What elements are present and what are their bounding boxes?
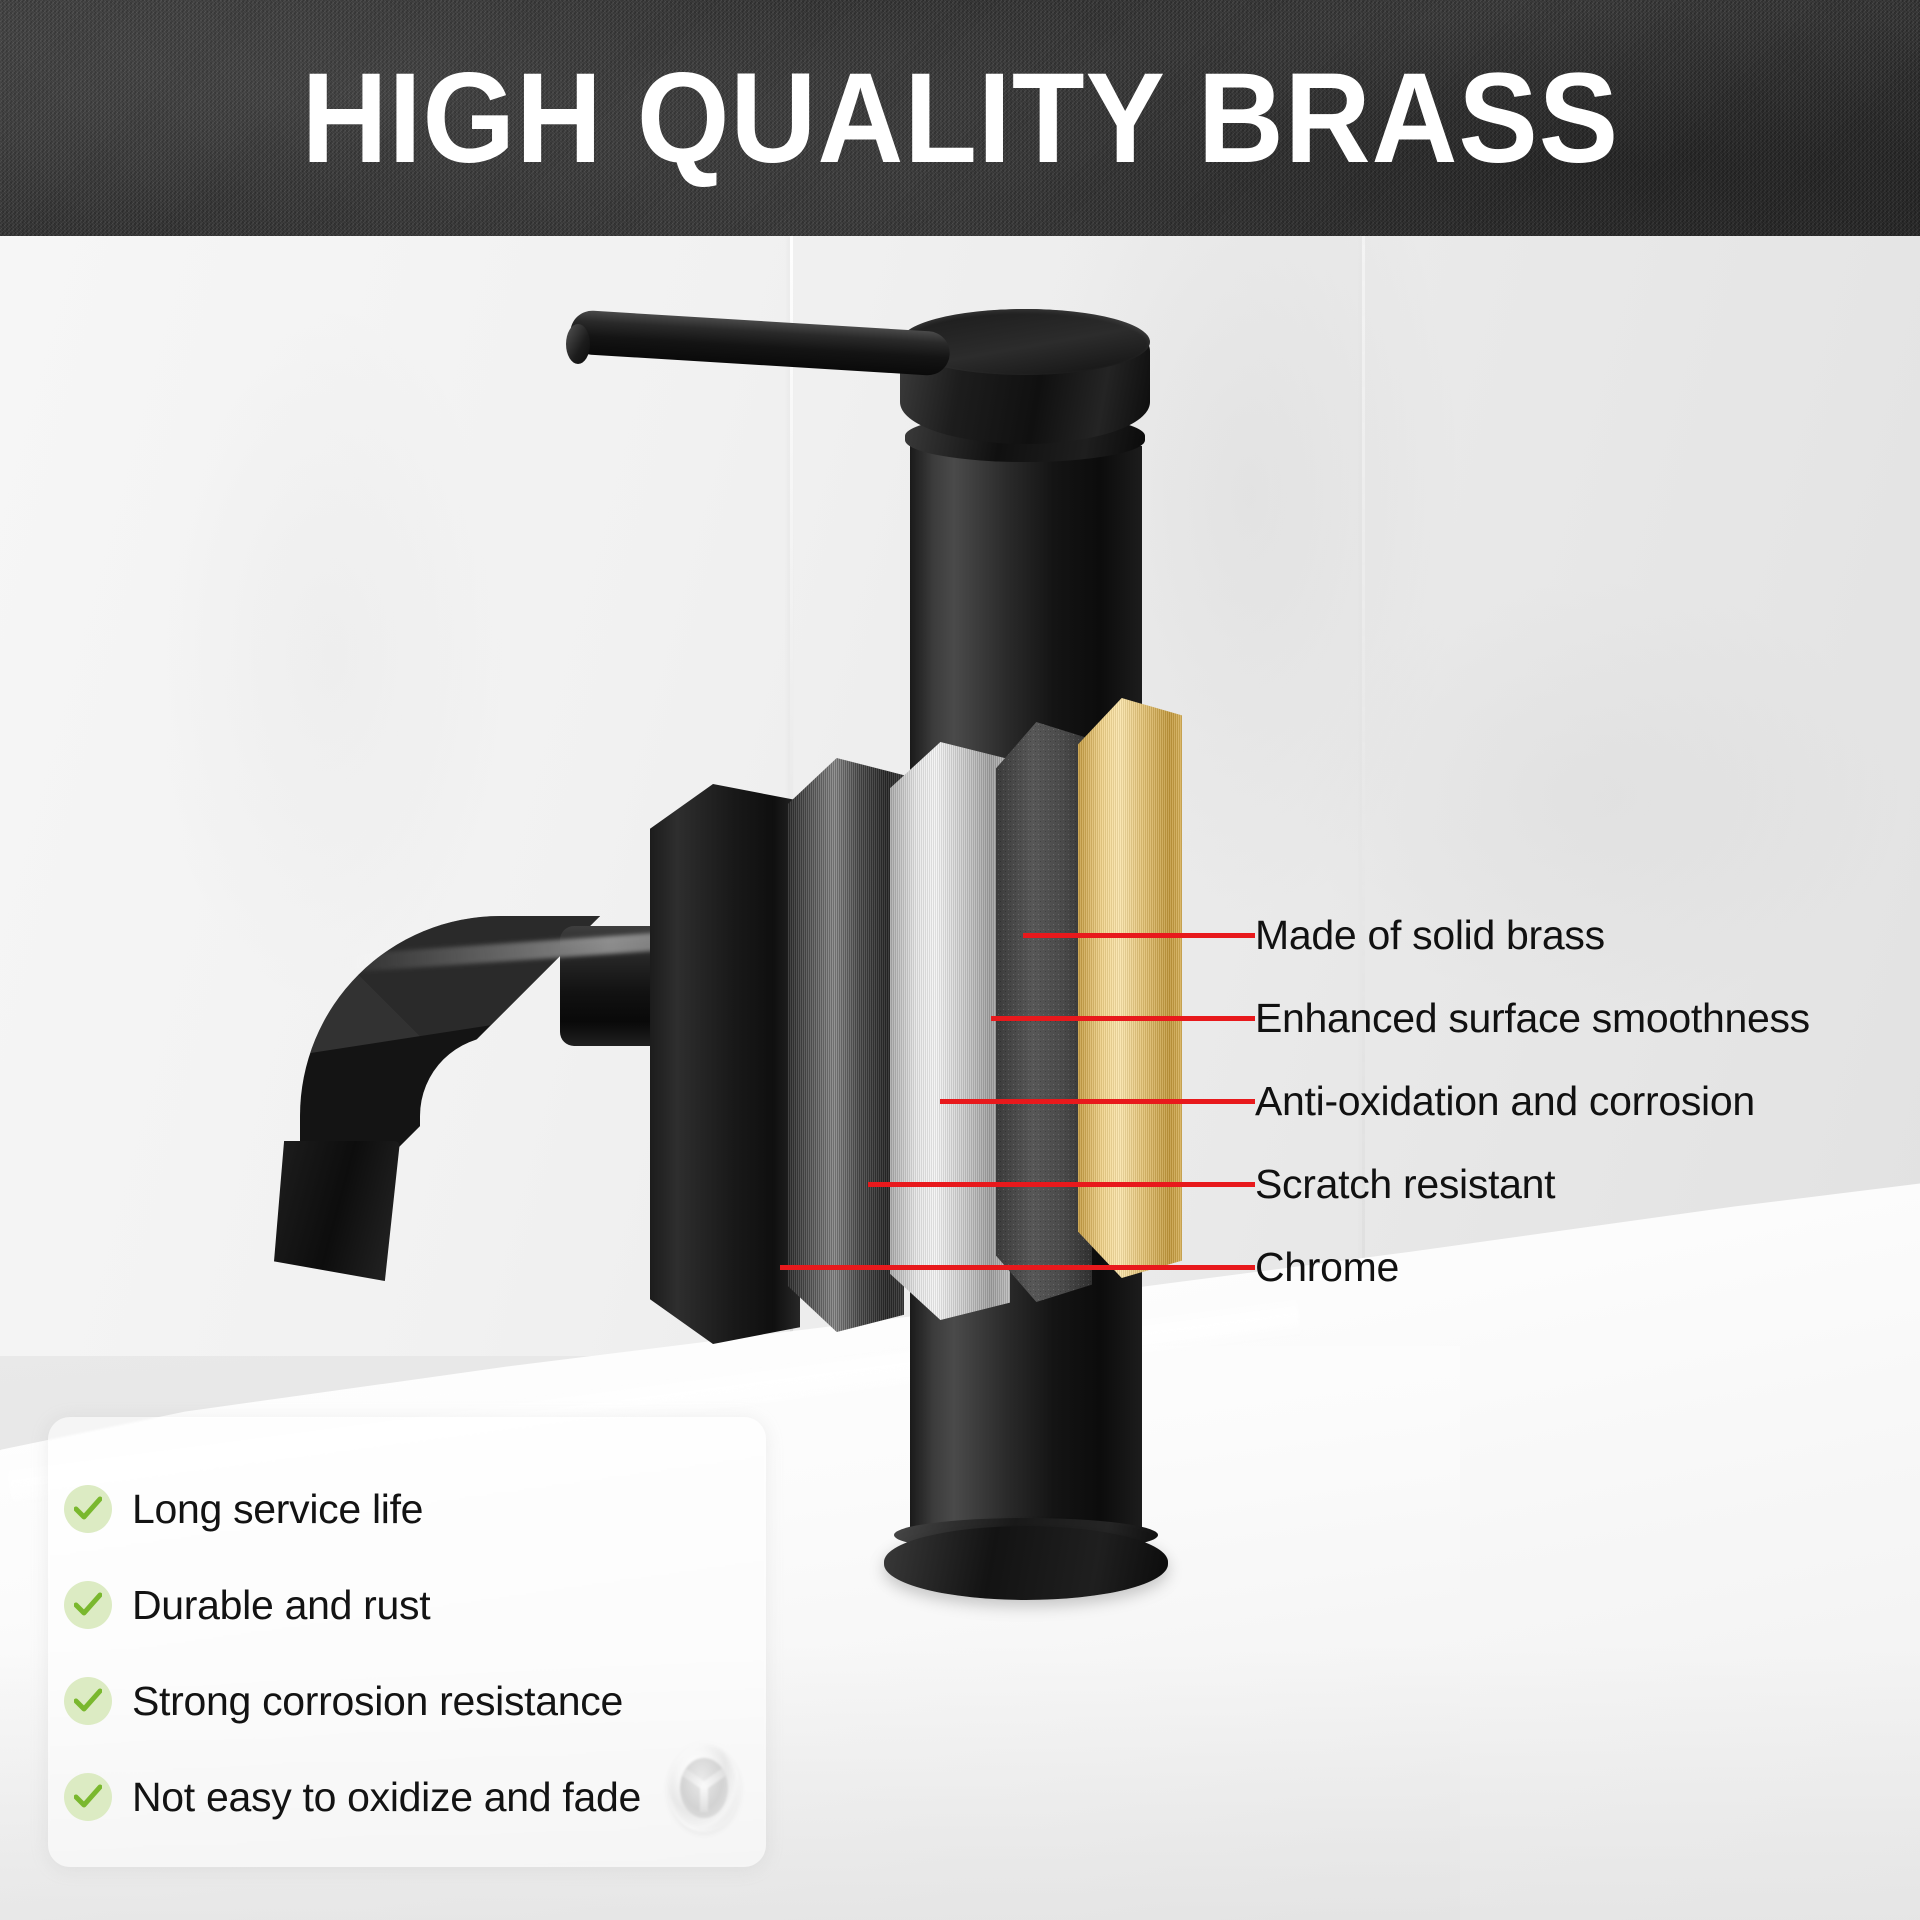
callout-label: Anti-oxidation and corrosion	[1255, 1074, 1755, 1128]
callout-label: Chrome	[1255, 1240, 1399, 1294]
check-icon	[64, 1581, 112, 1629]
callout-scratch-resistant: Scratch resistant	[868, 1157, 1918, 1211]
callout-leader-line	[780, 1265, 1255, 1270]
feature-label: Not easy to oxidize and fade	[132, 1773, 641, 1821]
callout-enhanced-surface-smoothness: Enhanced surface smoothness	[991, 991, 1920, 1045]
check-icon	[64, 1677, 112, 1725]
feature-checklist-card: Long service life Durable and rust Stron…	[48, 1417, 766, 1867]
feature-item-not-easy-to-oxidize-and-fade: Not easy to oxidize and fade	[48, 1749, 766, 1845]
callout-label: Enhanced surface smoothness	[1255, 991, 1810, 1045]
feature-label: Durable and rust	[132, 1581, 430, 1629]
feature-item-long-service-life: Long service life	[48, 1461, 766, 1557]
banner-title: HIGH QUALITY BRASS	[301, 55, 1618, 183]
callout-leader-line	[868, 1182, 1255, 1187]
callout-label: Made of solid brass	[1255, 908, 1605, 962]
callout-leader-line	[940, 1099, 1255, 1104]
feature-label: Strong corrosion resistance	[132, 1677, 623, 1725]
infographic-canvas: HIGH QUALITY BRASS	[0, 0, 1920, 1920]
feature-item-strong-corrosion-resistance: Strong corrosion resistance	[48, 1653, 766, 1749]
feature-item-durable-and-rust: Durable and rust	[48, 1557, 766, 1653]
check-icon	[64, 1485, 112, 1533]
header-banner: HIGH QUALITY BRASS	[0, 0, 1920, 236]
callout-made-of-solid-brass: Made of solid brass	[1023, 908, 1903, 962]
check-icon	[64, 1773, 112, 1821]
callout-leader-line	[991, 1016, 1255, 1021]
callout-chrome: Chrome	[780, 1240, 1920, 1294]
feature-label: Long service life	[132, 1485, 423, 1533]
callout-anti-oxidation-and-corrosion: Anti-oxidation and corrosion	[940, 1074, 1920, 1128]
callout-label: Scratch resistant	[1255, 1157, 1555, 1211]
callout-leader-line	[1023, 933, 1255, 938]
